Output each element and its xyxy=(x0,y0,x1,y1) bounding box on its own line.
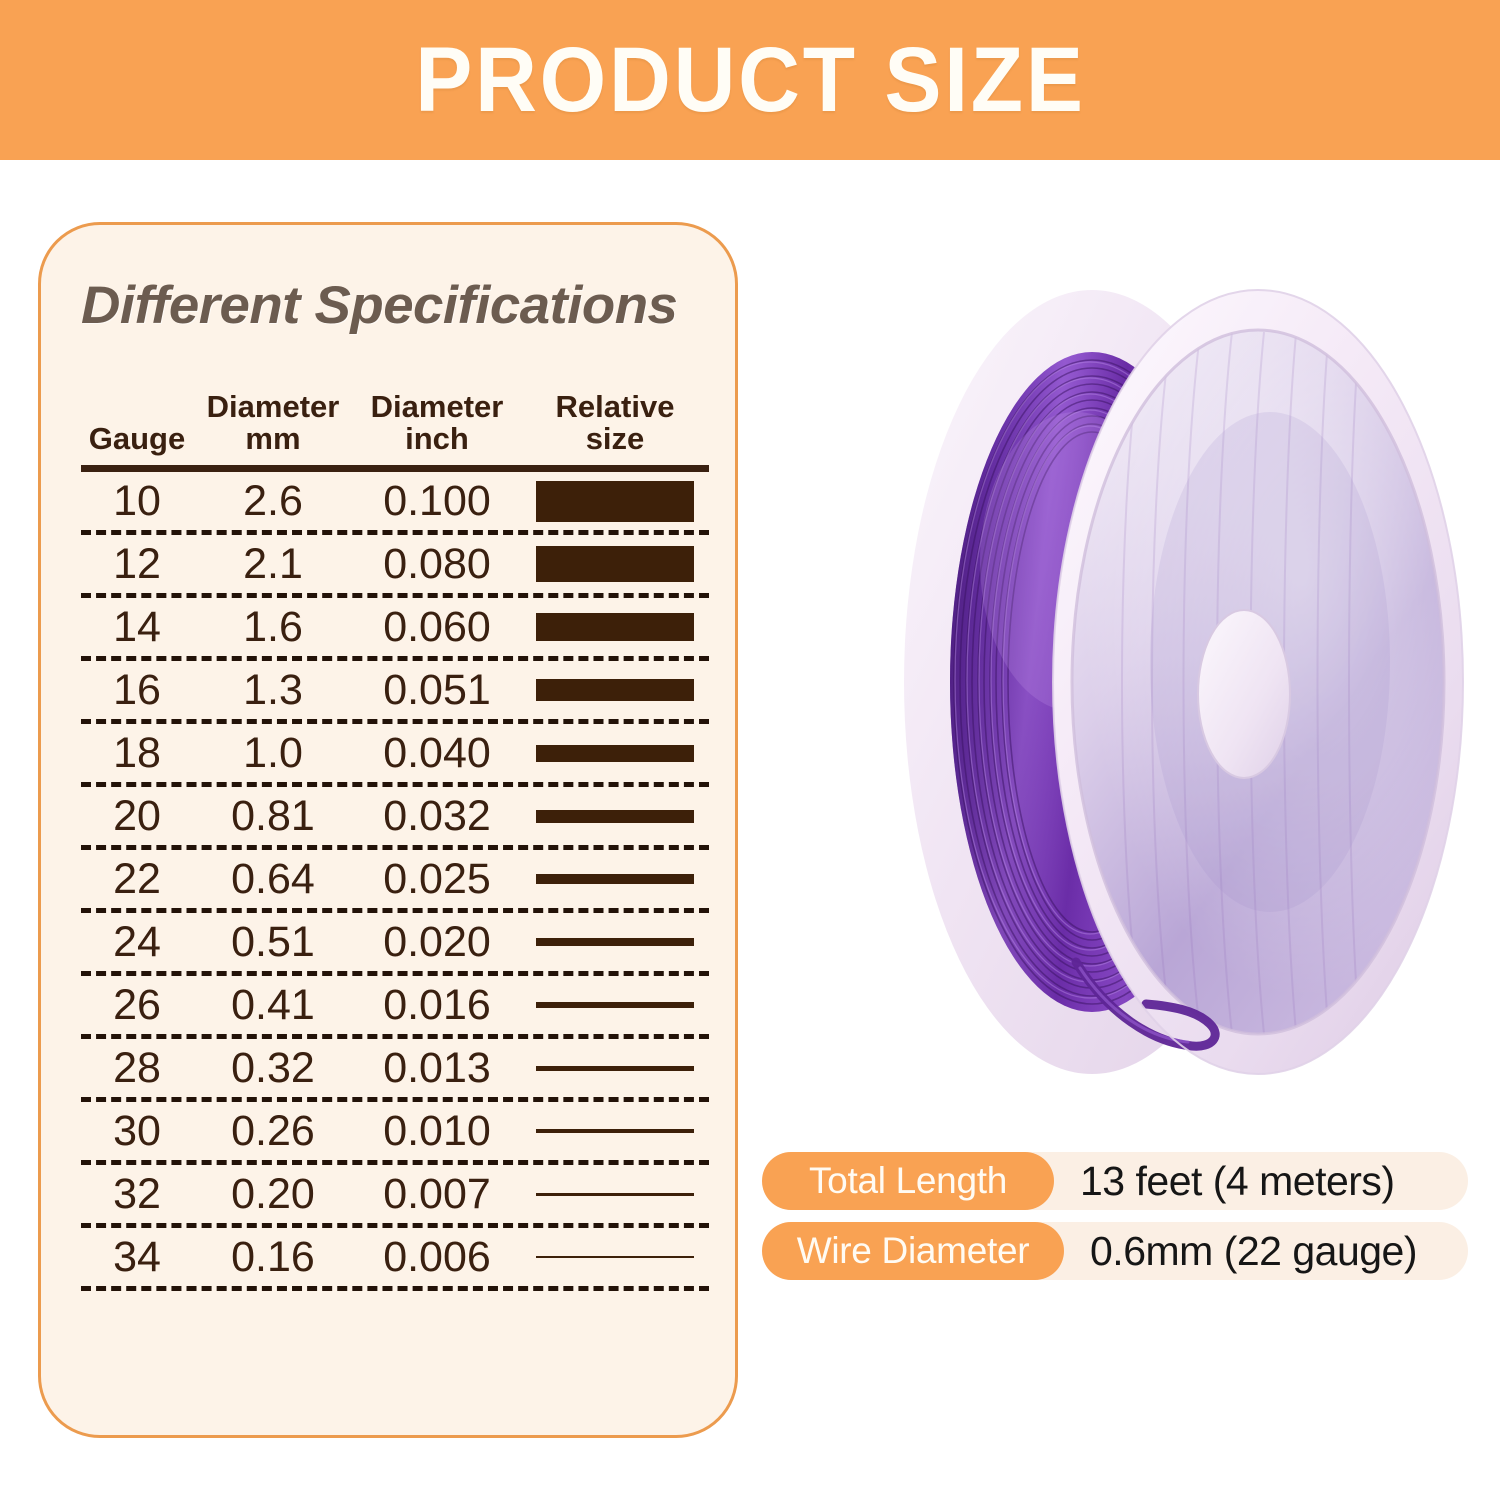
page-title: PRODUCT SIZE xyxy=(415,34,1085,126)
relative-size-bar xyxy=(536,679,694,701)
cell-diameter-mm: 0.41 xyxy=(193,984,353,1027)
info-badge-total-length: Total Length 13 feet (4 meters) xyxy=(762,1152,1468,1210)
header-banner: PRODUCT SIZE xyxy=(0,0,1500,160)
relative-size-bar xyxy=(536,546,694,582)
table-row: 240.510.020 xyxy=(81,913,709,971)
cell-gauge: 10 xyxy=(81,480,193,523)
specifications-table: Gauge Diameter mm Diameter inch Relative… xyxy=(81,373,709,1291)
column-header-diameter-mm-line2: mm xyxy=(193,423,353,455)
table-row: 141.60.060 xyxy=(81,598,709,656)
cell-gauge: 14 xyxy=(81,606,193,649)
cell-diameter-inch: 0.020 xyxy=(353,921,521,964)
cell-relative-size xyxy=(521,1129,709,1133)
relative-size-bar xyxy=(536,1129,694,1133)
cell-relative-size xyxy=(521,1256,709,1258)
table-header-row: Gauge Diameter mm Diameter inch Relative… xyxy=(81,373,709,459)
cell-diameter-inch: 0.080 xyxy=(353,543,521,586)
table-header-rule xyxy=(81,465,709,472)
cell-relative-size xyxy=(521,546,709,582)
cell-gauge: 22 xyxy=(81,858,193,901)
cell-diameter-inch: 0.025 xyxy=(353,858,521,901)
table-row: 200.810.032 xyxy=(81,787,709,845)
cell-diameter-inch: 0.013 xyxy=(353,1047,521,1090)
badge-value-wire-diameter: 0.6mm (22 gauge) xyxy=(1090,1228,1417,1275)
cell-diameter-inch: 0.060 xyxy=(353,606,521,649)
table-row: 102.60.100 xyxy=(81,472,709,530)
spec-card-title: Different Specifications xyxy=(81,275,677,336)
cell-diameter-mm: 2.6 xyxy=(193,480,353,523)
cell-diameter-mm: 0.51 xyxy=(193,921,353,964)
column-header-gauge-line1: Gauge xyxy=(81,423,193,455)
table-row: 220.640.025 xyxy=(81,850,709,908)
cell-relative-size xyxy=(521,1193,709,1196)
cell-diameter-mm: 0.16 xyxy=(193,1236,353,1279)
table-row: 340.160.006 xyxy=(81,1228,709,1286)
cell-gauge: 12 xyxy=(81,543,193,586)
relative-size-bar xyxy=(536,938,694,946)
table-row: 122.10.080 xyxy=(81,535,709,593)
table-row: 260.410.016 xyxy=(81,976,709,1034)
product-photo-wire-spool xyxy=(840,262,1465,1102)
specifications-card: Different Specifications Gauge Diameter … xyxy=(38,222,738,1438)
cell-diameter-inch: 0.010 xyxy=(353,1110,521,1153)
badge-value-total-length: 13 feet (4 meters) xyxy=(1080,1158,1395,1205)
relative-size-bar xyxy=(536,1193,694,1196)
table-row: 300.260.010 xyxy=(81,1102,709,1160)
cell-gauge: 30 xyxy=(81,1110,193,1153)
relative-size-bar xyxy=(536,1066,694,1071)
column-header-diameter-mm: Diameter mm xyxy=(193,391,353,459)
cell-gauge: 26 xyxy=(81,984,193,1027)
cell-relative-size xyxy=(521,1066,709,1071)
cell-diameter-mm: 0.64 xyxy=(193,858,353,901)
table-row: 320.200.007 xyxy=(81,1165,709,1223)
relative-size-bar xyxy=(536,745,694,762)
cell-diameter-mm: 0.26 xyxy=(193,1110,353,1153)
cell-diameter-mm: 0.32 xyxy=(193,1047,353,1090)
cell-relative-size xyxy=(521,613,709,641)
cell-diameter-inch: 0.016 xyxy=(353,984,521,1027)
column-header-diameter-mm-line1: Diameter xyxy=(193,391,353,423)
table-row: 280.320.013 xyxy=(81,1039,709,1097)
relative-size-bar xyxy=(536,613,694,641)
table-row: 181.00.040 xyxy=(81,724,709,782)
cell-gauge: 18 xyxy=(81,732,193,775)
column-header-relative-size: Relative size xyxy=(521,391,709,459)
column-header-diameter-inch-line1: Diameter xyxy=(353,391,521,423)
cell-gauge: 16 xyxy=(81,669,193,712)
relative-size-bar xyxy=(536,1256,694,1258)
table-body: 102.60.100122.10.080141.60.060161.30.051… xyxy=(81,472,709,1291)
wire-spool-illustration xyxy=(840,262,1465,1102)
info-badge-wire-diameter: Wire Diameter 0.6mm (22 gauge) xyxy=(762,1222,1468,1280)
cell-diameter-mm: 1.3 xyxy=(193,669,353,712)
relative-size-bar xyxy=(536,810,694,823)
column-header-diameter-inch: Diameter inch xyxy=(353,391,521,459)
badge-label-wire-diameter: Wire Diameter xyxy=(762,1222,1064,1280)
cell-relative-size xyxy=(521,810,709,823)
cell-diameter-mm: 1.0 xyxy=(193,732,353,775)
relative-size-bar xyxy=(536,1002,694,1008)
cell-gauge: 20 xyxy=(81,795,193,838)
cell-relative-size xyxy=(521,481,709,522)
cell-gauge: 32 xyxy=(81,1173,193,1216)
cell-diameter-inch: 0.100 xyxy=(353,480,521,523)
cell-diameter-inch: 0.051 xyxy=(353,669,521,712)
cell-diameter-inch: 0.006 xyxy=(353,1236,521,1279)
cell-gauge: 34 xyxy=(81,1236,193,1279)
cell-gauge: 24 xyxy=(81,921,193,964)
info-badges: Total Length 13 feet (4 meters) Wire Dia… xyxy=(762,1152,1468,1292)
cell-relative-size xyxy=(521,874,709,884)
cell-relative-size xyxy=(521,1002,709,1008)
cell-diameter-mm: 1.6 xyxy=(193,606,353,649)
cell-gauge: 28 xyxy=(81,1047,193,1090)
cell-relative-size xyxy=(521,679,709,701)
cell-diameter-mm: 0.81 xyxy=(193,795,353,838)
badge-label-total-length: Total Length xyxy=(762,1152,1054,1210)
row-separator xyxy=(81,1286,709,1291)
cell-diameter-inch: 0.007 xyxy=(353,1173,521,1216)
column-header-relative-size-line2: size xyxy=(521,423,709,455)
column-header-diameter-inch-line2: inch xyxy=(353,423,521,455)
column-header-relative-size-line1: Relative xyxy=(521,391,709,423)
cell-diameter-mm: 2.1 xyxy=(193,543,353,586)
cell-diameter-inch: 0.040 xyxy=(353,732,521,775)
table-row: 161.30.051 xyxy=(81,661,709,719)
cell-relative-size xyxy=(521,938,709,946)
column-header-gauge: Gauge xyxy=(81,423,193,459)
cell-diameter-mm: 0.20 xyxy=(193,1173,353,1216)
cell-diameter-inch: 0.032 xyxy=(353,795,521,838)
cell-relative-size xyxy=(521,745,709,762)
relative-size-bar xyxy=(536,874,694,884)
relative-size-bar xyxy=(536,481,694,522)
